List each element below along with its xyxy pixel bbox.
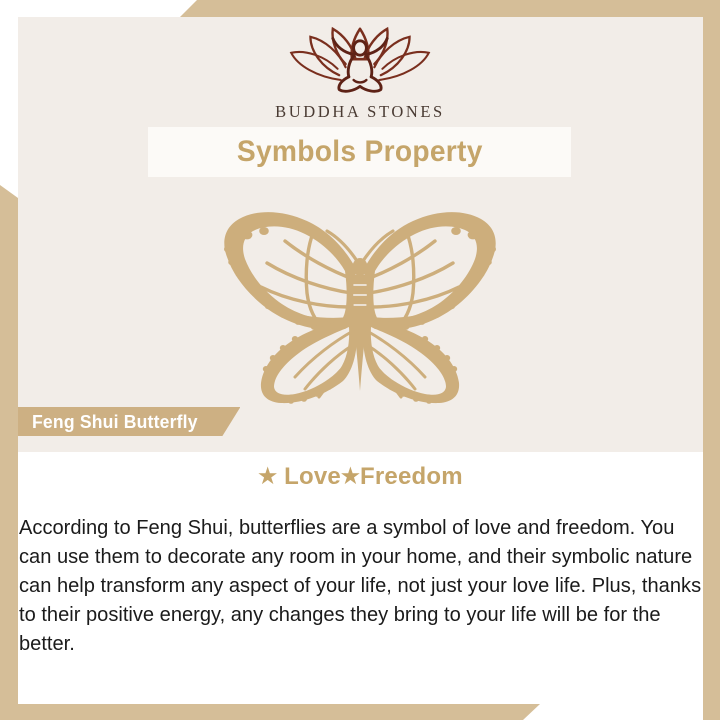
frame-bottom-band	[0, 704, 720, 720]
star-icon-left: ★	[258, 465, 277, 488]
feng-shui-banner: Feng Shui Butterfly	[18, 407, 240, 436]
lotus-meditation-icon	[280, 24, 440, 96]
love-freedom-heading: ★ Love★Freedom	[18, 463, 703, 491]
brand-wordmark: BUDDHA STONES	[0, 102, 720, 122]
frame-top-band	[0, 0, 720, 17]
promo-infographic: BUDDHA STONES Symbols Property	[0, 0, 720, 720]
heading-word-love: Love	[284, 463, 341, 490]
title-band: Symbols Property	[148, 127, 571, 177]
page-title: Symbols Property	[237, 135, 483, 169]
feng-shui-banner-label: Feng Shui Butterfly	[32, 411, 198, 433]
heading-word-freedom: Freedom	[360, 463, 463, 490]
description-paragraph: According to Feng Shui, butterflies are …	[19, 514, 703, 659]
frame-left-band	[0, 185, 18, 720]
star-icon-mid: ★	[341, 465, 360, 488]
brand-logo: BUDDHA STONES	[0, 24, 720, 122]
